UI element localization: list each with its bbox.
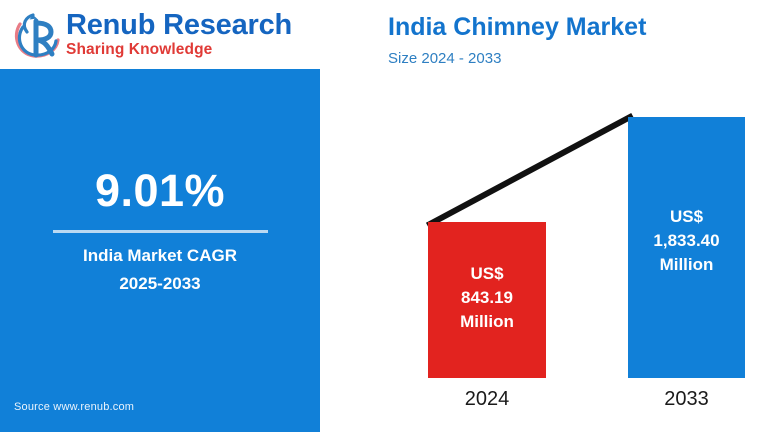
page-title: India Chimney Market xyxy=(388,12,760,42)
cagr-panel: 9.01% India Market CAGR 2025-2033 Source… xyxy=(0,69,320,432)
brand-name: Renub Research xyxy=(66,8,306,42)
cagr-divider xyxy=(53,230,268,233)
bar-2033[interactable]: US$ 1,833.40 Million xyxy=(628,117,745,378)
bar-2033-amount: 1,833.40 xyxy=(628,229,745,253)
cagr-years: 2025-2033 xyxy=(0,272,320,296)
bar-2024-unit: Million xyxy=(428,310,546,334)
page-subtitle: Size 2024 - 2033 xyxy=(388,49,760,69)
header: India Chimney Market Size 2024 - 2033 xyxy=(388,12,760,69)
axis-label-2024: 2024 xyxy=(428,386,546,412)
bar-chart: US$ 843.19 Million US$ 1,833.40 Million … xyxy=(330,69,768,432)
bar-2024[interactable]: US$ 843.19 Million xyxy=(428,222,546,378)
bar-2033-unit: Million xyxy=(628,253,745,277)
cagr-label: India Market CAGR xyxy=(0,244,320,268)
brand-tagline: Sharing Knowledge xyxy=(66,41,306,59)
source-note: Source www.renub.com xyxy=(14,400,134,414)
infographic-canvas: Renub Research Sharing Knowledge India C… xyxy=(0,0,768,432)
renub-r-arrow-logo-icon xyxy=(10,10,66,62)
bar-2024-amount: 843.19 xyxy=(428,286,546,310)
brand-logo[interactable]: Renub Research Sharing Knowledge xyxy=(8,8,308,66)
axis-label-2033: 2033 xyxy=(628,386,745,412)
cagr-content: 9.01% India Market CAGR 2025-2033 xyxy=(0,165,320,296)
cagr-value: 9.01% xyxy=(0,165,320,217)
bar-2024-currency: US$ xyxy=(428,262,546,286)
bar-2024-value-label: US$ 843.19 Million xyxy=(428,262,546,334)
bar-2033-currency: US$ xyxy=(628,205,745,229)
bar-2033-value-label: US$ 1,833.40 Million xyxy=(628,205,745,277)
